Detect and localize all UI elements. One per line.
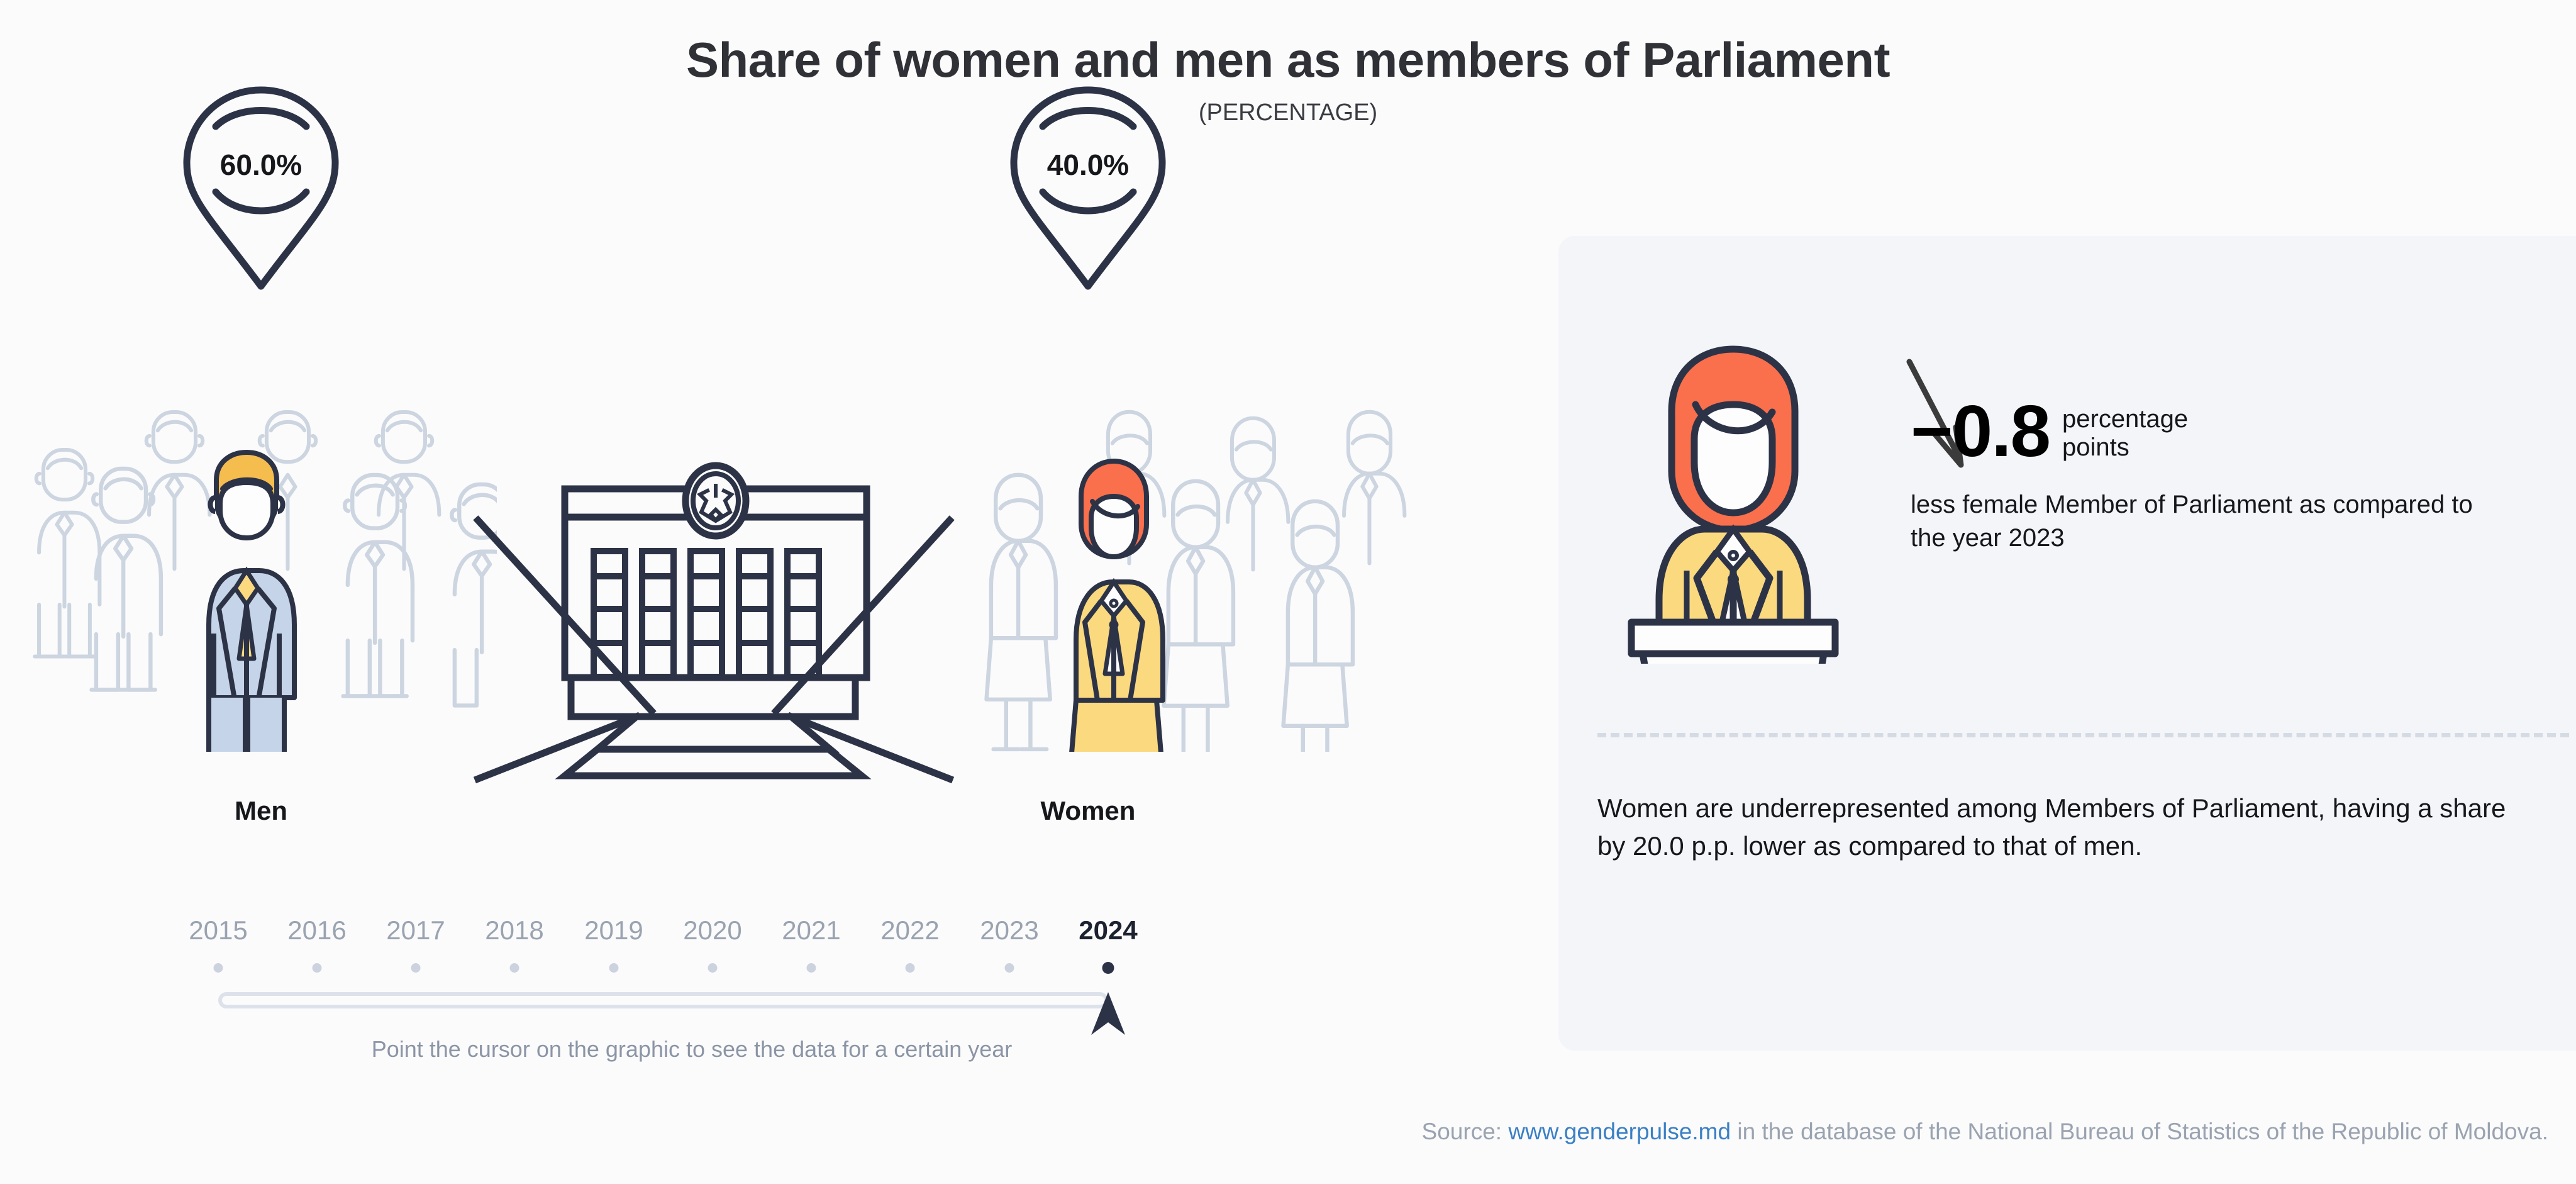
- year-tick-2024[interactable]: [1102, 962, 1114, 974]
- year-tick-2016[interactable]: [313, 963, 322, 973]
- page-subtitle: (PERCENTAGE): [0, 99, 2576, 126]
- source-footer: Source: www.genderpulse.md in the databa…: [1422, 1119, 2548, 1145]
- year-tick-2019[interactable]: [609, 963, 619, 973]
- year-tick-2020[interactable]: [708, 963, 718, 973]
- year-tick-2017[interactable]: [411, 963, 421, 973]
- stat-description: less female Member of Parliament as comp…: [1911, 488, 2477, 555]
- year-label-2017[interactable]: 2017: [386, 915, 445, 946]
- left-visual-block: 60.0% 40.0% Men Women: [0, 189, 1522, 881]
- panel-divider: [1597, 733, 2569, 737]
- stat-unit-line2: points: [2062, 433, 2188, 462]
- men-group-label: Men: [179, 796, 343, 826]
- year-tick-2015[interactable]: [214, 963, 223, 973]
- insight-panel: −0.8 percentage points less female Membe…: [1558, 236, 2576, 1051]
- parliament-building-icon: [465, 459, 962, 799]
- stat-row: −0.8 percentage points: [1911, 396, 2477, 466]
- female-speaker-podium-icon: [1601, 337, 1865, 664]
- year-label-2023[interactable]: 2023: [980, 915, 1038, 946]
- men-percentage-value: 60.0%: [179, 148, 343, 182]
- year-label-2021[interactable]: 2021: [782, 915, 840, 946]
- infographic-page: Share of women and men as members of Par…: [0, 0, 2576, 1184]
- women-group-label: Women: [1006, 796, 1170, 826]
- year-label-2022[interactable]: 2022: [880, 915, 939, 946]
- slider-thumb[interactable]: [1087, 990, 1129, 1043]
- page-title: Share of women and men as members of Par…: [0, 31, 2576, 89]
- stat-unit-line1: percentage: [2062, 405, 2188, 433]
- map-pin-icon: [179, 85, 343, 293]
- year-label-2018[interactable]: 2018: [485, 915, 543, 946]
- year-label-2019[interactable]: 2019: [584, 915, 643, 946]
- slider-thumb-arrow-icon[interactable]: [1087, 990, 1129, 1040]
- year-label-2024[interactable]: 2024: [1079, 915, 1137, 946]
- year-tick-2021[interactable]: [807, 963, 816, 973]
- map-pin-icon: [1006, 85, 1170, 293]
- year-timeline-slider[interactable]: 2015 2016 2017 2018 2019 2020 2021 2022 …: [208, 915, 1176, 1060]
- year-tick-2022[interactable]: [906, 963, 915, 973]
- men-crowd-icon: [19, 399, 497, 752]
- source-prefix: Source:: [1422, 1119, 1509, 1144]
- men-value-pin: 60.0%: [179, 85, 343, 293]
- timeline-hint-text: Point the cursor on the graphic to see t…: [208, 1036, 1176, 1063]
- year-tick-dots: [208, 959, 1176, 978]
- year-label-2020[interactable]: 2020: [683, 915, 741, 946]
- highlighted-man-figure: [204, 452, 294, 752]
- year-label-2016[interactable]: 2016: [287, 915, 346, 946]
- source-link[interactable]: www.genderpulse.md: [1508, 1119, 1731, 1144]
- year-labels-row: 2015 2016 2017 2018 2019 2020 2021 2022 …: [208, 915, 1176, 959]
- source-suffix: in the database of the National Bureau o…: [1731, 1119, 2548, 1144]
- stat-block: −0.8 percentage points less female Membe…: [1911, 396, 2477, 556]
- women-percentage-value: 40.0%: [1006, 148, 1170, 182]
- women-value-pin: 40.0%: [1006, 85, 1170, 293]
- stat-unit: percentage points: [2062, 405, 2188, 462]
- year-tick-2018[interactable]: [510, 963, 519, 973]
- slider-track[interactable]: [218, 992, 1108, 1008]
- highlighted-woman-figure: [1070, 461, 1163, 752]
- year-label-2015[interactable]: 2015: [189, 915, 247, 946]
- women-crowd-icon: [972, 399, 1450, 752]
- panel-note-text: Women are underrepresented among Members…: [1597, 790, 2528, 864]
- stat-value: −0.8: [1911, 396, 2050, 466]
- year-tick-2023[interactable]: [1005, 963, 1014, 973]
